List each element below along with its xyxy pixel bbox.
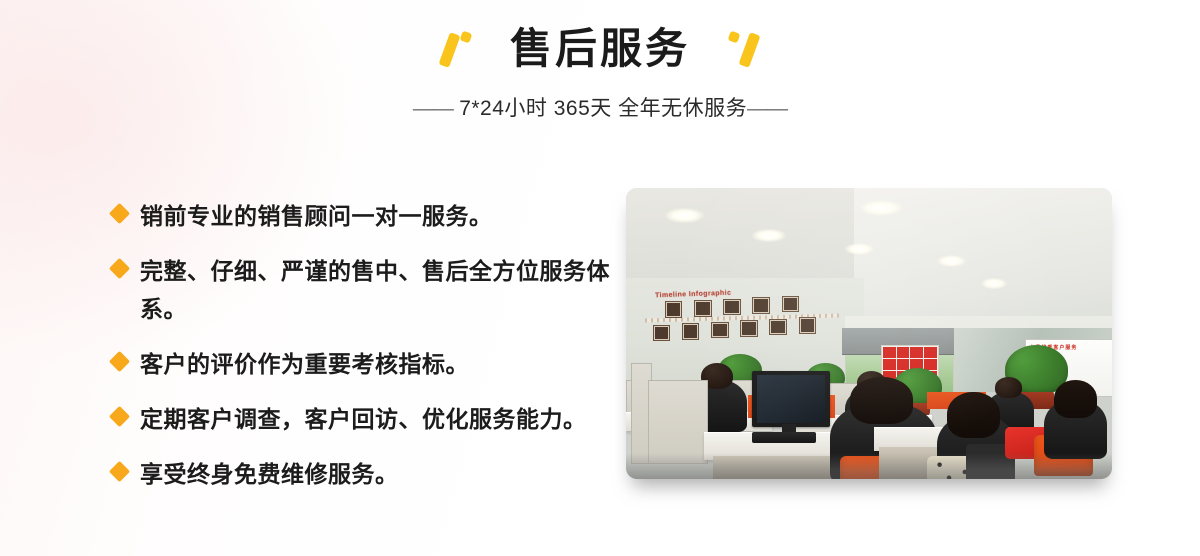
list-item: 享受终身免费维修服务。 bbox=[112, 456, 632, 493]
service-feature-list: 销前专业的销售顾问一对一服务。 完整、仔细、严谨的售中、售后全方位服务体系。 客… bbox=[112, 198, 632, 494]
list-item-label: 销前专业的销售顾问一对一服务。 bbox=[140, 198, 493, 235]
cubicle-partition bbox=[648, 380, 708, 463]
ceiling-light-icon bbox=[859, 200, 903, 216]
photo-bottom-shading bbox=[626, 453, 1112, 479]
person-hair bbox=[850, 377, 913, 424]
list-item: 定期客户调查，客户回访、优化服务能力。 bbox=[112, 401, 632, 438]
orange-diamond-bullet-icon bbox=[109, 351, 130, 372]
wall-frame bbox=[665, 301, 683, 318]
wall-frame bbox=[694, 300, 712, 317]
ceiling-light-icon bbox=[981, 278, 1008, 288]
yellow-quote-mark-left-icon bbox=[436, 29, 478, 69]
list-item-label: 享受终身免费维修服务。 bbox=[140, 456, 399, 493]
ceiling-light-icon bbox=[937, 255, 966, 267]
wall-frame bbox=[799, 317, 817, 334]
wall-frame bbox=[740, 320, 758, 337]
monitor bbox=[752, 371, 830, 426]
wall-frame bbox=[682, 323, 700, 340]
ceiling-light-icon bbox=[752, 229, 786, 242]
title-row: 售后服务 bbox=[0, 18, 1200, 80]
list-item-label: 完整、仔细、严谨的售中、售后全方位服务体系。 bbox=[140, 253, 632, 328]
subtitle-text: 7*24小时 365天 全年无休服务 bbox=[459, 97, 747, 120]
list-item: 销前专业的销售顾问一对一服务。 bbox=[112, 198, 632, 235]
orange-diamond-bullet-icon bbox=[109, 461, 130, 482]
list-item-label: 定期客户调查，客户回访、优化服务能力。 bbox=[140, 401, 587, 438]
person-hair bbox=[1054, 380, 1098, 418]
subtitle-rule-right: —— bbox=[747, 97, 787, 120]
wall-frame bbox=[769, 319, 787, 336]
list-item-label: 客户的评价作为重要考核指标。 bbox=[140, 346, 469, 383]
person-hair bbox=[947, 392, 1000, 439]
keyboard bbox=[752, 432, 815, 442]
person-head bbox=[995, 377, 1022, 397]
office-photo: Timeline Infographic 本月优秀客户服务 bbox=[626, 188, 1112, 479]
wall-frame bbox=[723, 299, 741, 316]
monitor-stand bbox=[782, 424, 797, 433]
wall-frame bbox=[711, 322, 729, 339]
list-item: 完整、仔细、严谨的售中、售后全方位服务体系。 bbox=[112, 253, 632, 328]
page-title: 售后服务 bbox=[510, 28, 690, 70]
yellow-quote-mark-right-icon bbox=[722, 29, 764, 69]
office-photo-content: Timeline Infographic 本月优秀客户服务 bbox=[626, 188, 1112, 479]
ceiling-light-icon bbox=[845, 243, 874, 255]
wall-frame bbox=[653, 325, 671, 342]
list-item: 客户的评价作为重要考核指标。 bbox=[112, 346, 632, 383]
orange-diamond-bullet-icon bbox=[109, 203, 130, 224]
orange-diamond-bullet-icon bbox=[109, 406, 130, 427]
subtitle-rule-left: —— bbox=[413, 97, 453, 120]
orange-diamond-bullet-icon bbox=[109, 258, 130, 279]
wall-frame bbox=[752, 297, 770, 314]
subtitle: —— 7*24小时 365天 全年无休服务—— bbox=[0, 92, 1200, 122]
ceiling-light-icon bbox=[665, 208, 704, 223]
wall-frame bbox=[782, 296, 800, 313]
